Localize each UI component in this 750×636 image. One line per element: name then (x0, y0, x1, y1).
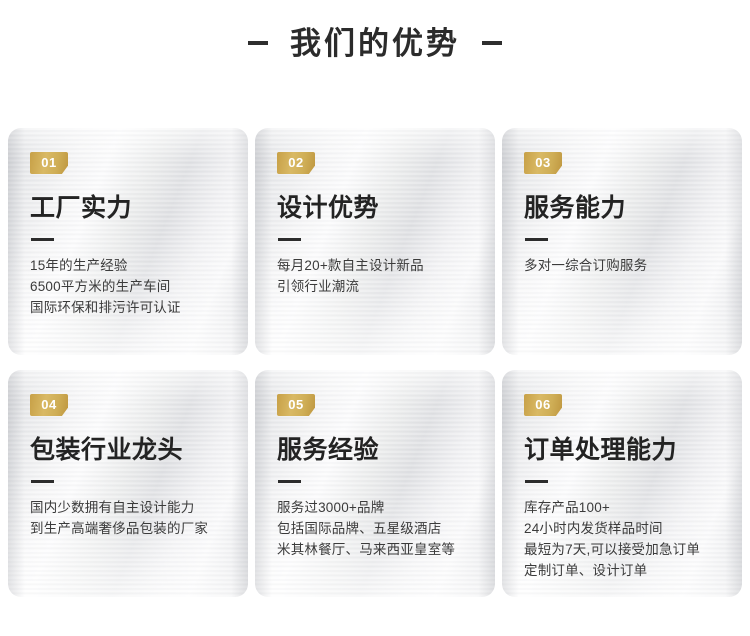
advantage-card-04[interactable]: 04 包装行业龙头 国内少数拥有自主设计能力 到生产高端奢侈品包装的厂家 (8, 370, 248, 597)
heading-divider (525, 480, 548, 483)
description-line: 米其林餐厅、马来西亚皇室等 (277, 539, 473, 560)
description-line: 国内少数拥有自主设计能力 (30, 497, 226, 518)
advantage-card-05[interactable]: 05 服务经验 服务过3000+品牌 包括国际品牌、五星级酒店 米其林餐厅、马来… (255, 370, 495, 597)
card-heading: 服务经验 (277, 437, 473, 463)
card-heading: 工厂实力 (30, 195, 226, 221)
advantage-card-03[interactable]: 03 服务能力 多对一综合订购服务 (502, 128, 742, 355)
description-line: 引领行业潮流 (277, 276, 473, 297)
description-line: 国际环保和排污许可认证 (30, 297, 226, 318)
description-line: 到生产高端奢侈品包装的厂家 (30, 518, 226, 539)
heading-divider (31, 238, 54, 241)
heading-divider (278, 238, 301, 241)
title-dash-right-icon (482, 41, 502, 45)
description-line: 6500平方米的生产车间 (30, 276, 226, 297)
card-content: 03 服务能力 多对一综合订购服务 (502, 128, 742, 276)
advantage-card-02[interactable]: 02 设计优势 每月20+款自主设计新品 引领行业潮流 (255, 128, 495, 355)
description-line: 每月20+款自主设计新品 (277, 255, 473, 276)
heading-divider (31, 480, 54, 483)
title-dash-left-icon (248, 41, 268, 45)
card-content: 01 工厂实力 15年的生产经验 6500平方米的生产车间 国际环保和排污许可认… (8, 128, 248, 318)
advantage-card-01[interactable]: 01 工厂实力 15年的生产经验 6500平方米的生产车间 国际环保和排污许可认… (8, 128, 248, 355)
description-line: 15年的生产经验 (30, 255, 226, 276)
page-title-text: 我们的优势 (290, 28, 460, 59)
card-number-badge: 06 (524, 394, 562, 416)
card-number-badge: 03 (524, 152, 562, 174)
description-line: 库存产品100+ (524, 497, 720, 518)
advantage-cards-grid: 01 工厂实力 15年的生产经验 6500平方米的生产车间 国际环保和排污许可认… (8, 128, 742, 597)
card-description: 服务过3000+品牌 包括国际品牌、五星级酒店 米其林餐厅、马来西亚皇室等 (277, 497, 473, 560)
card-number-badge: 02 (277, 152, 315, 174)
card-description: 每月20+款自主设计新品 引领行业潮流 (277, 255, 473, 297)
description-line: 多对一综合订购服务 (524, 255, 720, 276)
card-heading: 服务能力 (524, 195, 720, 221)
card-content: 02 设计优势 每月20+款自主设计新品 引领行业潮流 (255, 128, 495, 297)
card-content: 04 包装行业龙头 国内少数拥有自主设计能力 到生产高端奢侈品包装的厂家 (8, 370, 248, 539)
heading-divider (278, 480, 301, 483)
card-number-badge: 05 (277, 394, 315, 416)
card-content: 06 订单处理能力 库存产品100+ 24小时内发货样品时间 最短为7天,可以接… (502, 370, 742, 581)
page-title: 我们的优势 (0, 0, 750, 52)
card-heading: 设计优势 (277, 195, 473, 221)
card-heading: 订单处理能力 (524, 437, 720, 463)
heading-divider (525, 238, 548, 241)
card-description: 库存产品100+ 24小时内发货样品时间 最短为7天,可以接受加急订单 定制订单… (524, 497, 720, 581)
card-number-badge: 04 (30, 394, 68, 416)
description-line: 定制订单、设计订单 (524, 560, 720, 581)
description-line: 24小时内发货样品时间 (524, 518, 720, 539)
description-line: 最短为7天,可以接受加急订单 (524, 539, 720, 560)
card-heading: 包装行业龙头 (30, 437, 226, 463)
advantage-card-06[interactable]: 06 订单处理能力 库存产品100+ 24小时内发货样品时间 最短为7天,可以接… (502, 370, 742, 597)
card-description: 多对一综合订购服务 (524, 255, 720, 276)
card-number-badge: 01 (30, 152, 68, 174)
card-description: 15年的生产经验 6500平方米的生产车间 国际环保和排污许可认证 (30, 255, 226, 318)
description-line: 服务过3000+品牌 (277, 497, 473, 518)
description-line: 包括国际品牌、五星级酒店 (277, 518, 473, 539)
card-content: 05 服务经验 服务过3000+品牌 包括国际品牌、五星级酒店 米其林餐厅、马来… (255, 370, 495, 560)
card-description: 国内少数拥有自主设计能力 到生产高端奢侈品包装的厂家 (30, 497, 226, 539)
